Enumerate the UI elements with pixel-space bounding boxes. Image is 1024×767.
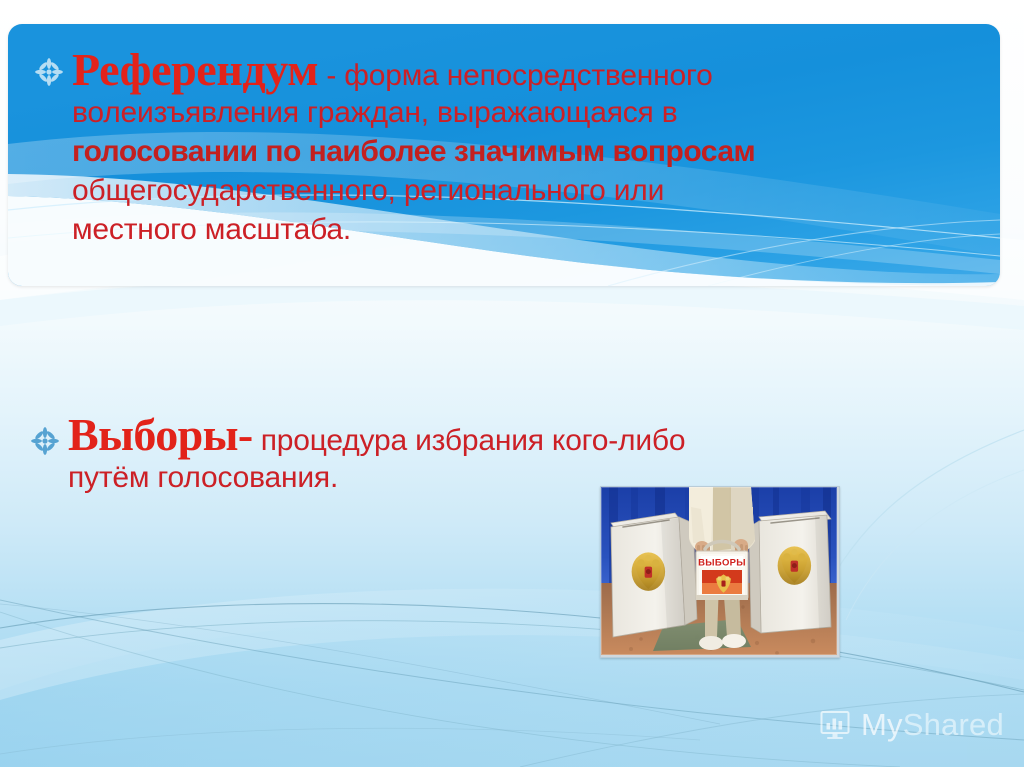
asterisk-bullet-icon xyxy=(30,426,60,456)
referendum-line-4: общегосударственного, регионального или xyxy=(72,171,934,210)
referendum-line-2: волеизъявления граждан, выражающаяся в xyxy=(72,93,934,132)
term-referendum: Референдум xyxy=(72,44,318,95)
referendum-definition-text: Референдум - форма непосредственного вол… xyxy=(34,47,934,249)
vybory-definition-text: Выборы- процедура избрания кого-либо пут… xyxy=(30,412,930,497)
referendum-line-1-rest: - форма непосредственного xyxy=(318,59,712,92)
vybory-line-1: Выборы- процедура избрания кого-либо xyxy=(68,412,930,458)
ballot-boxes-photo: ВЫБОРЫ xyxy=(600,486,840,658)
slide: Референдум - форма непосредственного вол… xyxy=(0,0,1024,767)
vybory-line-1-rest: процедура избрания кого-либо xyxy=(253,424,686,457)
watermark-text: MyShared xyxy=(861,707,1004,743)
watermark-text-primary: My xyxy=(861,707,903,742)
referendum-line-1: Референдум - форма непосредственного xyxy=(72,47,934,93)
definition-block-referendum: Референдум - форма непосредственного вол… xyxy=(34,47,934,249)
myshared-watermark: MyShared xyxy=(818,703,1008,747)
watermark-text-secondary: Shared xyxy=(903,707,1004,742)
referendum-line-3-emphasis: голосовании по наиболее значимым вопроса… xyxy=(72,132,934,171)
ballot-box-right xyxy=(749,511,831,633)
definition-block-vybory: Выборы- процедура избрания кого-либо пут… xyxy=(30,412,930,497)
term-vybory: Выборы- xyxy=(68,409,253,460)
presentation-chart-icon xyxy=(818,706,852,745)
ballot-box-label: ВЫБОРЫ xyxy=(698,558,746,569)
asterisk-bullet-icon xyxy=(34,57,64,87)
ballot-box-left xyxy=(611,513,697,637)
referendum-line-5: местного масштаба. xyxy=(72,210,934,249)
